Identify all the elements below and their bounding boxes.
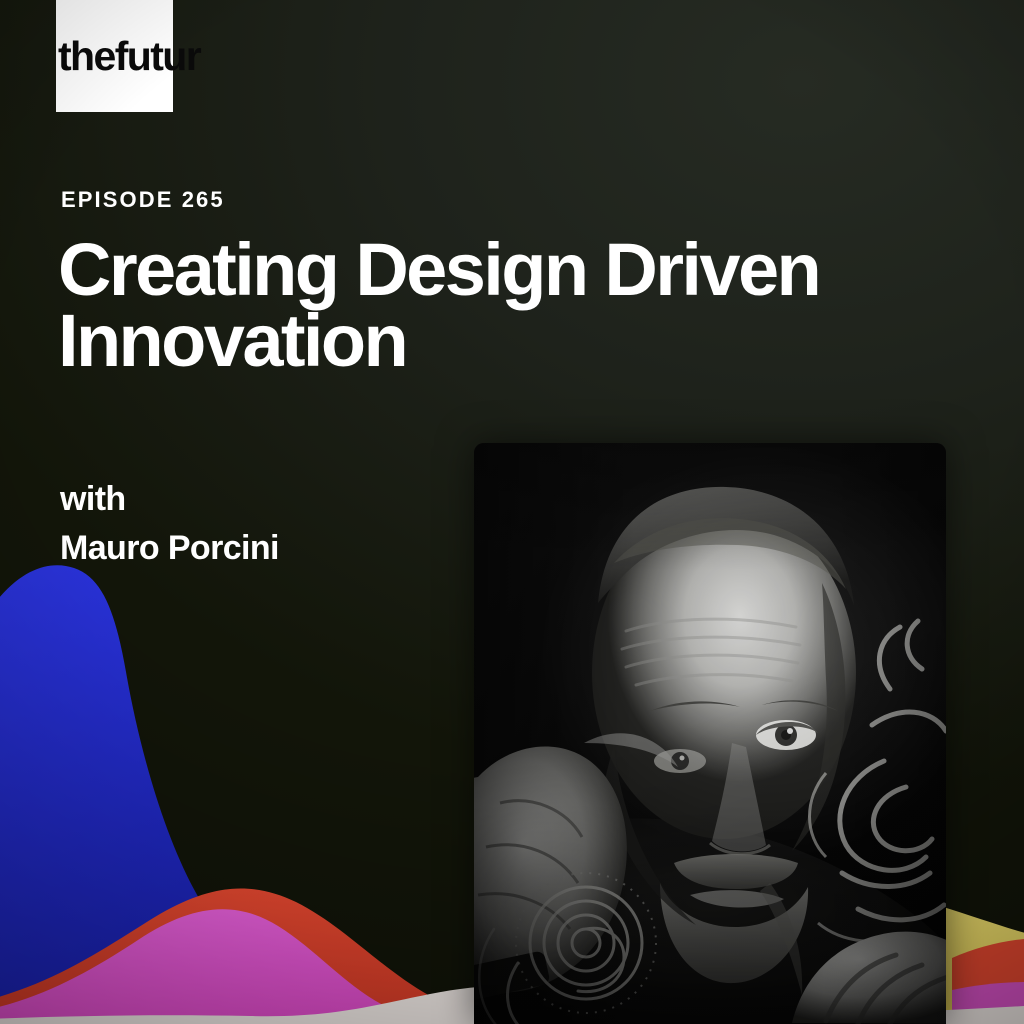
episode-title-line-1: Creating Design Driven bbox=[58, 234, 938, 305]
episode-title-line-2: Innovation bbox=[58, 305, 938, 376]
credit-preposition: with bbox=[60, 480, 126, 518]
guest-name: Mauro Porcini bbox=[60, 524, 279, 573]
episode-label: EPISODE 265 bbox=[61, 189, 225, 211]
guest-photo bbox=[474, 443, 946, 1024]
podcast-cover-art: thefutur EPISODE 265 Creating Design Dri… bbox=[0, 0, 1024, 1024]
guest-credit: with Mauro Porcini bbox=[60, 475, 279, 574]
episode-title: Creating Design Driven Innovation bbox=[58, 234, 938, 376]
thefutur-logo-text: thefutur bbox=[58, 36, 200, 77]
